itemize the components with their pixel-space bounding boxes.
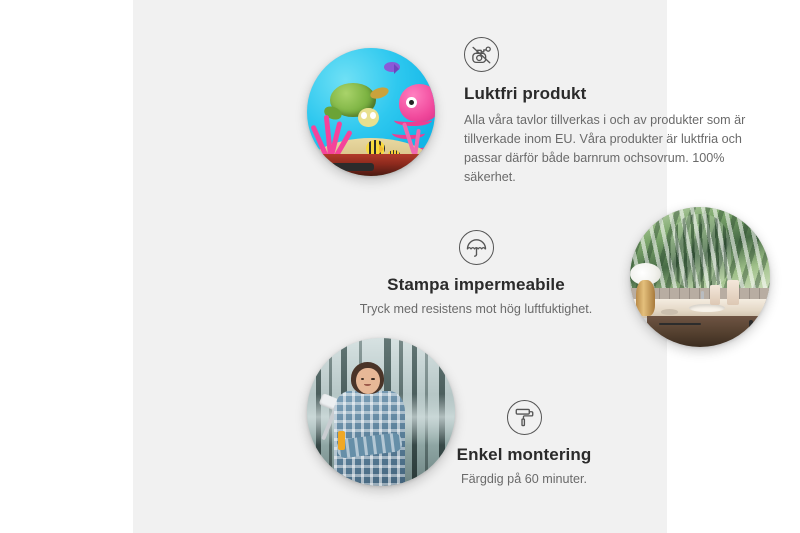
toiletry-bottle — [727, 280, 740, 305]
feature-heading: Luktfri produkt — [464, 83, 764, 104]
feature-odour: Luktfri produkt Alla våra tavlor tillver… — [464, 37, 764, 187]
no-odour-icon — [464, 37, 499, 72]
toiletry-bottle — [710, 285, 720, 305]
octopus-eye — [406, 97, 417, 109]
feature-description: Alla våra tavlor tillverkas i och av pro… — [464, 111, 764, 187]
page-root: Luktfri produkt Alla våra tavlor tillver… — [0, 0, 800, 533]
bottom-photo-strip — [307, 154, 435, 176]
coral-right — [402, 122, 430, 155]
paint-roller-icon — [507, 400, 542, 435]
purple-fish — [384, 62, 401, 72]
sink-basin — [689, 304, 725, 312]
feature-description: Färgdig på 60 minuter. — [399, 470, 649, 489]
feature-assembly: Enkel montering Färgdig på 60 minuter. — [399, 400, 649, 489]
underwater-scene — [307, 48, 435, 176]
feature-waterproof: Stampa impermeabile Tryck med resistens … — [351, 230, 601, 319]
gold-vase — [636, 280, 656, 316]
soap-dish — [661, 309, 678, 315]
bathroom-scene — [630, 207, 770, 347]
coral-left — [313, 115, 351, 159]
feature-description: Tryck med resistens mot hög luftfuktighe… — [351, 300, 601, 319]
person-smile — [364, 383, 371, 387]
umbrella-icon — [459, 230, 494, 265]
feature-heading: Stampa impermeabile — [351, 274, 601, 295]
content-panel: Luktfri produkt Alla våra tavlor tillver… — [133, 0, 667, 533]
paint-roller-grip — [338, 431, 345, 450]
bathroom-vanity-photo — [630, 207, 770, 347]
person-face — [356, 368, 380, 395]
feature-heading: Enkel montering — [399, 444, 649, 465]
underwater-cartoon-photo — [307, 48, 435, 176]
turtle-head — [358, 108, 378, 127]
wood-cabinet — [647, 316, 770, 347]
